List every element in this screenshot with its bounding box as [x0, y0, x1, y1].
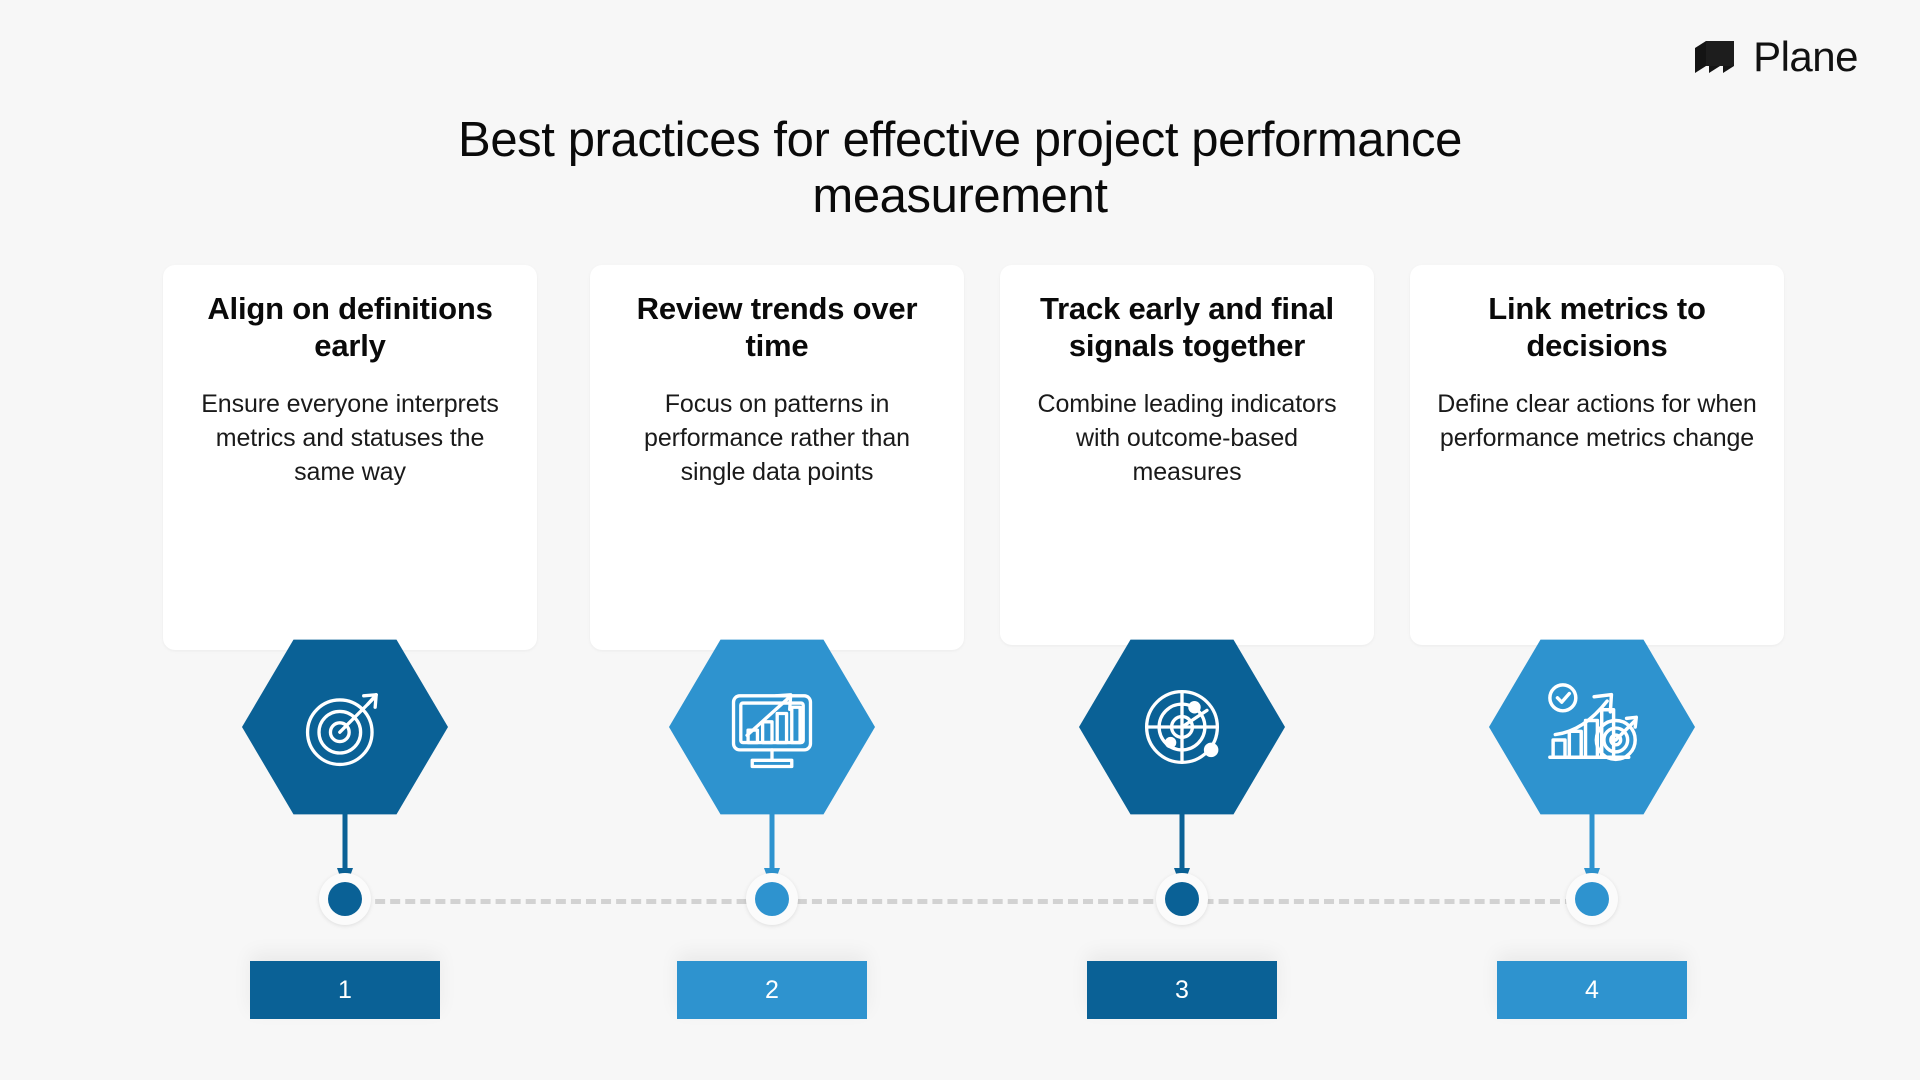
step-description-4: Define clear actions for when performanc… — [1432, 388, 1762, 456]
step-number-box-2: 2 — [677, 961, 867, 1019]
step-column-3: Track early and final signals together C… — [976, 0, 1388, 1080]
step-title-2: Review trends over time — [612, 291, 942, 364]
step-icon-badge-1 — [242, 636, 448, 818]
radar-signals-icon — [1130, 675, 1234, 779]
step-number-4: 4 — [1585, 978, 1599, 1003]
step-card-3: Track early and final signals together C… — [1000, 265, 1374, 645]
timeline-node-4 — [1566, 873, 1618, 925]
timeline-node-2 — [746, 873, 798, 925]
step-description-3: Combine leading indicators with outcome-… — [1022, 388, 1352, 489]
step-number-box-1: 1 — [250, 961, 440, 1019]
step-column-2: Review trends over time Focus on pattern… — [566, 0, 978, 1080]
steps-board: Align on definitions early Ensure everyo… — [0, 0, 1920, 1080]
step-title-3: Track early and final signals together — [1022, 291, 1352, 364]
monitor-bar-chart-growth-icon — [720, 675, 824, 779]
step-description-2: Focus on patterns in performance rather … — [612, 388, 942, 489]
step-icon-badge-3 — [1079, 636, 1285, 818]
step-number-box-3: 3 — [1087, 961, 1277, 1019]
timeline-node-1 — [319, 873, 371, 925]
step-number-2: 2 — [765, 978, 779, 1003]
step-icon-badge-4 — [1489, 636, 1695, 818]
step-card-4: Link metrics to decisions Define clear a… — [1410, 265, 1784, 645]
step-title-1: Align on definitions early — [185, 291, 515, 364]
target-arrow-icon — [293, 675, 397, 779]
step-column-4: Link metrics to decisions Define clear a… — [1386, 0, 1798, 1080]
step-card-2: Review trends over time Focus on pattern… — [590, 265, 964, 650]
step-column-1: Align on definitions early Ensure everyo… — [139, 0, 551, 1080]
step-number-box-4: 4 — [1497, 961, 1687, 1019]
step-description-1: Ensure everyone interprets metrics and s… — [185, 388, 515, 489]
step-number-3: 3 — [1175, 978, 1189, 1003]
step-title-4: Link metrics to decisions — [1432, 291, 1762, 364]
step-icon-badge-2 — [669, 636, 875, 818]
step-number-1: 1 — [338, 978, 352, 1003]
growth-chart-target-check-icon — [1538, 673, 1646, 781]
timeline-node-3 — [1156, 873, 1208, 925]
step-card-1: Align on definitions early Ensure everyo… — [163, 265, 537, 650]
